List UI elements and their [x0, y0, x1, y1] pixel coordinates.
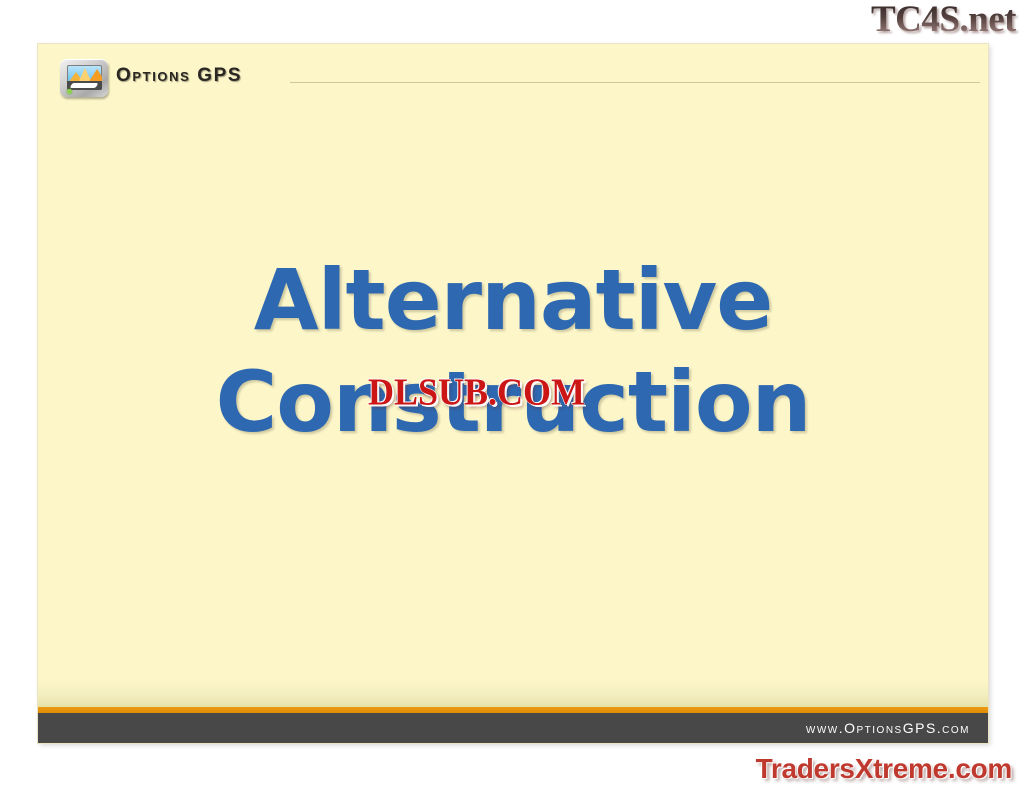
- tradersxtreme-site-watermark: TradersXtreme.com: [756, 753, 1012, 785]
- gps-device-screen: [67, 65, 102, 90]
- title-block: Alternative Construction: [98, 249, 928, 454]
- power-led-icon: [67, 89, 72, 94]
- tc4s-site-watermark: TC4S.net: [871, 0, 1016, 41]
- slide-title: Alternative Construction: [98, 249, 928, 454]
- gps-device-icon: [60, 59, 108, 97]
- header-divider: [290, 82, 980, 83]
- slide-header: Options GPS: [38, 44, 988, 108]
- slide-bottom-fade: [38, 679, 988, 707]
- brand-title: Options GPS: [116, 65, 242, 87]
- slide-footer: www.OptionsGPS.com: [38, 713, 988, 743]
- footer-website-url: www.OptionsGPS.com: [806, 720, 970, 736]
- slide-title-line-1: Alternative: [98, 249, 928, 351]
- dlsub-site-watermark: DLSUB.COM: [368, 370, 585, 414]
- road-shape: [67, 81, 102, 90]
